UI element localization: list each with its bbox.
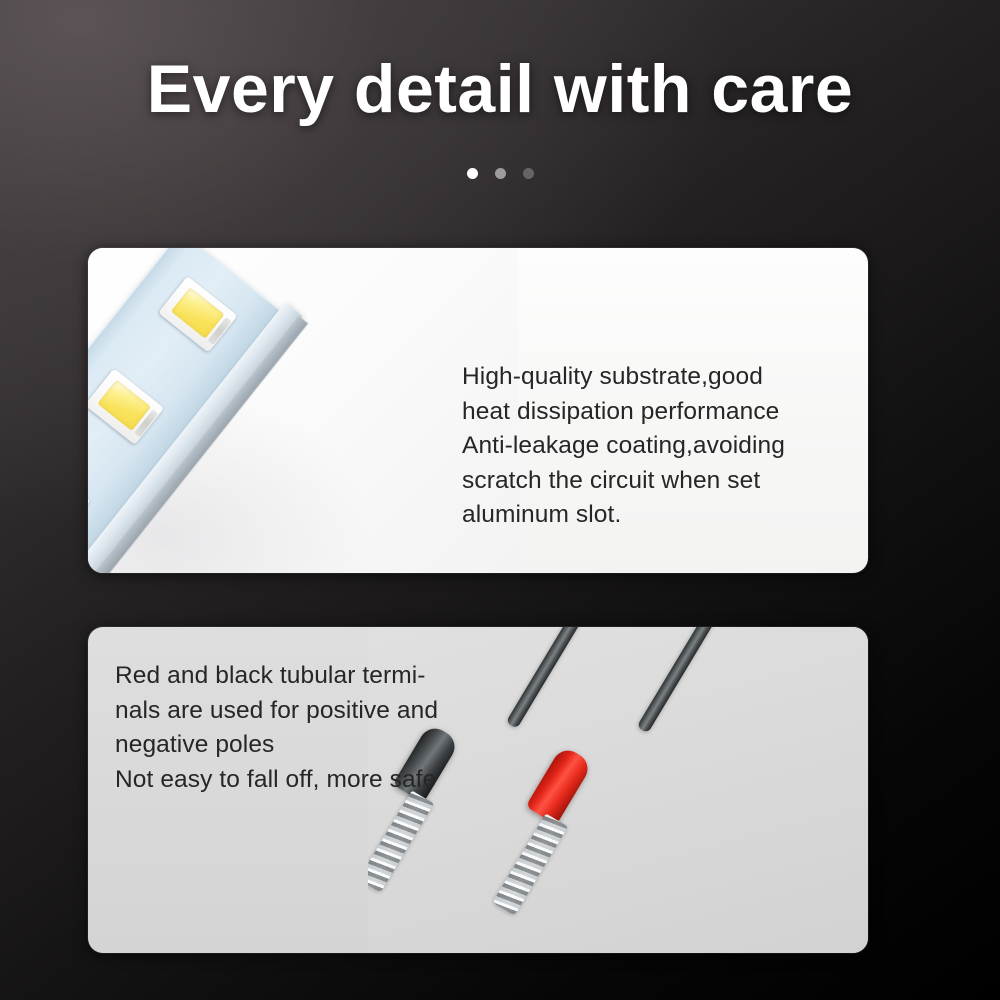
- carousel-dot-1[interactable]: [467, 168, 478, 179]
- carousel-dot-3[interactable]: [523, 168, 534, 179]
- led-feature-description: High-quality substrate,good heat dissipa…: [462, 360, 852, 533]
- carousel-dots: [0, 168, 1000, 179]
- product-detail-page: Every detail with care Q1: [0, 0, 1000, 1000]
- feature-card-tubular-terminals: Red and black tubular termi- nals are us…: [88, 627, 868, 953]
- page-title: Every detail with care: [0, 55, 1000, 123]
- feature-card-led-substrate: Q1 High-quality substrate,good heat diss…: [88, 248, 868, 573]
- led-strip-board: Q1: [88, 248, 518, 573]
- carousel-dot-2[interactable]: [495, 168, 506, 179]
- terminal-feature-description: Red and black tubular termi- nals are us…: [115, 659, 515, 797]
- led-strip-photo: Q1: [88, 248, 518, 573]
